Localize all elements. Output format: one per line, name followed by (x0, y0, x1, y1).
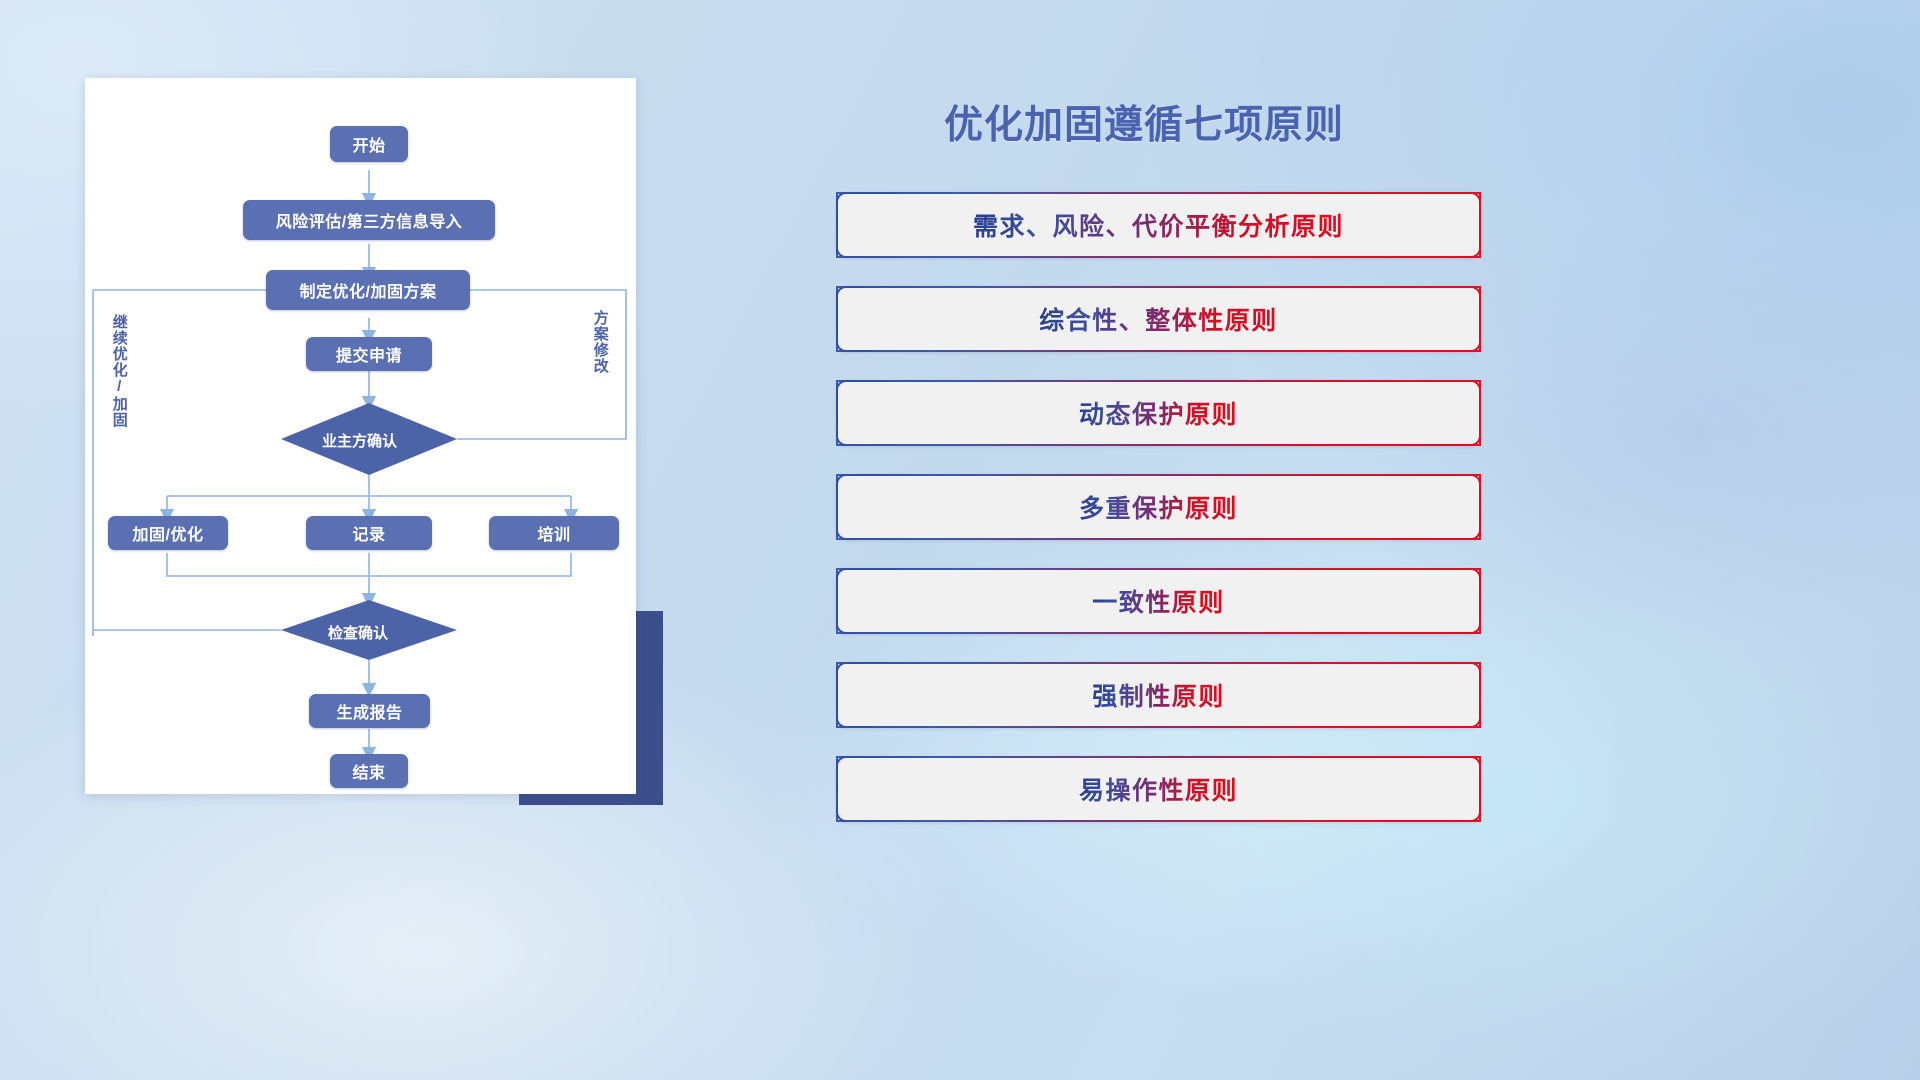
flow-node-reinforce-label: 加固/优化 (133, 521, 204, 545)
flow-node-risk-assessment-label: 风险评估/第三方信息导入 (276, 208, 462, 232)
flow-node-owner-confirm-label: 业主方确认 (322, 433, 397, 450)
flow-node-training[interactable]: 培训 (489, 516, 619, 550)
flow-node-training-label: 培训 (537, 521, 570, 545)
principle-item-5-label: 一致性原则 (1092, 583, 1225, 619)
flow-node-check-confirm-label: 检查确认 (328, 625, 388, 642)
flowchart-card: 开始 风险评估/第三方信息导入 制定优化/加固方案 提交申请 业主方确认 加固/… (85, 78, 636, 794)
flow-node-check-confirm[interactable]: 检查确认 (328, 622, 388, 643)
principle-item-2-label: 综合性、整体性原则 (1039, 301, 1278, 337)
principle-item-2[interactable]: 综合性、整体性原则 (836, 286, 1481, 352)
flow-node-reinforce[interactable]: 加固/优化 (108, 516, 228, 550)
principle-item-1-label: 需求、风险、代价平衡分析原则 (973, 207, 1344, 243)
flow-node-report-label: 生成报告 (336, 699, 402, 723)
flow-node-submit[interactable]: 提交申请 (306, 337, 432, 371)
flow-node-plan[interactable]: 制定优化/加固方案 (266, 270, 470, 310)
principle-item-4[interactable]: 多重保护原则 (836, 474, 1481, 540)
principle-list: 需求、风险、代价平衡分析原则 综合性、整体性原则 动态保护原则 多重保护原则 一… (836, 192, 1481, 850)
principle-item-4-label: 多重保护原则 (1079, 489, 1238, 525)
principle-item-6-label: 强制性原则 (1092, 677, 1225, 713)
principle-item-7[interactable]: 易操作性原则 (836, 756, 1481, 822)
flow-node-plan-label: 制定优化/加固方案 (300, 278, 437, 302)
principle-item-6[interactable]: 强制性原则 (836, 662, 1481, 728)
flow-node-end-label: 结束 (352, 759, 385, 783)
flow-edge-label-left: 继续优化/加固 (111, 314, 127, 428)
page-title: 优化加固遵循七项原则 (944, 94, 1344, 150)
flow-node-record-label: 记录 (352, 521, 385, 545)
flow-edge-label-right: 方案修改 (592, 310, 608, 374)
flow-node-start[interactable]: 开始 (330, 126, 408, 162)
flow-node-start-label: 开始 (352, 132, 385, 156)
principle-item-3-label: 动态保护原则 (1079, 395, 1238, 431)
flow-edge-label-right-text: 方案修改 (592, 310, 609, 374)
flow-node-risk-assessment[interactable]: 风险评估/第三方信息导入 (243, 200, 495, 240)
flow-node-record[interactable]: 记录 (306, 516, 432, 550)
flow-node-end[interactable]: 结束 (330, 754, 408, 788)
principle-item-7-label: 易操作性原则 (1079, 771, 1238, 807)
flow-node-report[interactable]: 生成报告 (309, 694, 430, 728)
flow-edge-label-left-text: 继续优化/加固 (111, 314, 128, 428)
flow-node-owner-confirm[interactable]: 业主方确认 (322, 430, 397, 451)
flow-node-submit-label: 提交申请 (336, 342, 402, 366)
principle-item-1[interactable]: 需求、风险、代价平衡分析原则 (836, 192, 1481, 258)
principle-item-3[interactable]: 动态保护原则 (836, 380, 1481, 446)
principle-item-5[interactable]: 一致性原则 (836, 568, 1481, 634)
